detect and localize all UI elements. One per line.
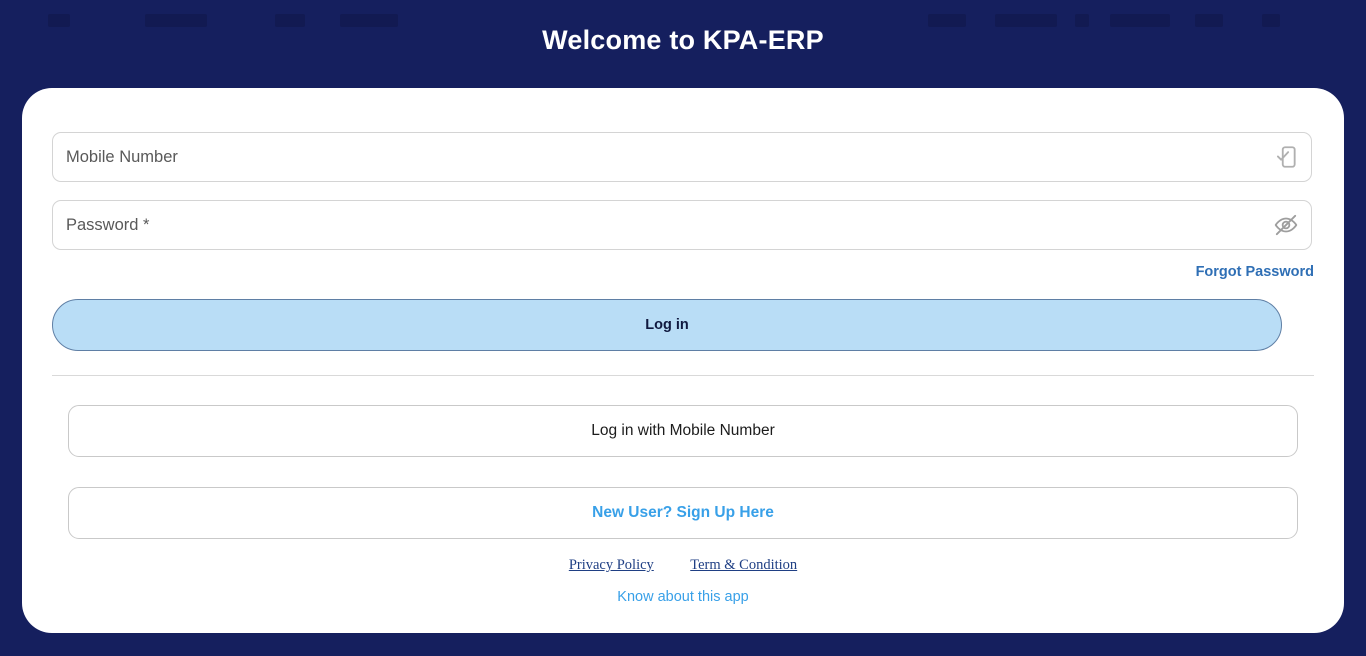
sign-up-button[interactable]: New User? Sign Up Here: [68, 487, 1298, 539]
mobile-check-icon[interactable]: [1273, 144, 1299, 170]
mobile-number-input[interactable]: Mobile Number: [52, 132, 1312, 182]
login-button[interactable]: Log in: [52, 299, 1282, 351]
login-with-mobile-number-button[interactable]: Log in with Mobile Number: [68, 405, 1298, 457]
page-title: Welcome to KPA-ERP: [0, 22, 1366, 58]
password-placeholder: Password *: [66, 201, 149, 249]
section-divider: [52, 375, 1314, 376]
eye-off-icon[interactable]: [1273, 212, 1299, 238]
legal-links-row: Privacy Policy Term & Condition: [22, 556, 1344, 574]
terms-and-conditions-link[interactable]: Term & Condition: [690, 557, 797, 574]
login-screen: Welcome to KPA-ERP Mobile Number Passwor…: [0, 0, 1366, 656]
forgot-password-link[interactable]: Forgot Password: [1196, 264, 1314, 280]
about-link-row: Know about this app: [22, 588, 1344, 606]
privacy-policy-link[interactable]: Privacy Policy: [569, 557, 654, 574]
login-card: Mobile Number Password * Forgot Password…: [22, 88, 1344, 633]
mobile-number-placeholder: Mobile Number: [66, 133, 178, 181]
password-input[interactable]: Password *: [52, 200, 1312, 250]
know-about-app-link[interactable]: Know about this app: [617, 589, 748, 605]
